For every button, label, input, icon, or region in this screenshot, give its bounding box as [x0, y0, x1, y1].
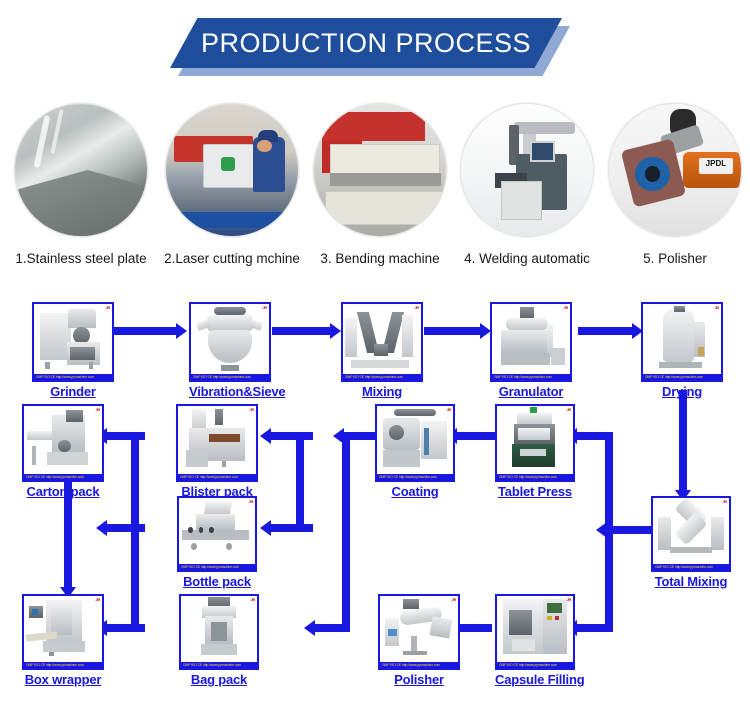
corner-mark: JR: [722, 499, 727, 504]
watermark: GMP ISO CE http://www.jrpmachine.com: [653, 564, 729, 570]
polisher-photo: JPDL: [608, 103, 742, 237]
watermark: GMP ISO CE http://www.jrpmachine.com: [178, 474, 256, 480]
flow-node-grinder[interactable]: JR GMP ISO CE http://www.jrpmachine.com …: [32, 302, 114, 399]
watermark: GMP ISO CE http://www.jrpmachine.com: [181, 662, 257, 668]
material-caption-5: 5. Polisher: [600, 251, 750, 266]
watermark: GMP ISO CE http://www.jrpmachine.com: [497, 474, 573, 480]
flow-node-bag-pack[interactable]: JR GMP ISO CE http://www.jrpmachine.com …: [179, 594, 259, 687]
total-mixing-thumbnail[interactable]: JR GMP ISO CE http://www.jrpmachine.com: [651, 496, 731, 572]
flow-label-total-mixing: Total Mixing: [651, 574, 731, 589]
mixing-thumbnail[interactable]: JR GMP ISO CE http://www.jrpmachine.com: [341, 302, 423, 382]
arrow-bag-pack-to-box-wrapper: [105, 624, 145, 632]
tablet-press-thumbnail[interactable]: JR GMP ISO CE http://www.jrpmachine.com: [495, 404, 575, 482]
blister-pack-thumbnail[interactable]: JR GMP ISO CE http://www.jrpmachine.com: [176, 404, 258, 482]
flow-node-total-mixing[interactable]: JR GMP ISO CE http://www.jrpmachine.com …: [651, 496, 731, 589]
flow-node-vibration-sieve[interactable]: JR GMP ISO CE http://www.jrpmachine.com …: [189, 302, 285, 399]
arrowhead-grinder-to-vibration: [176, 323, 187, 339]
arrow-mixing-to-granulator: [424, 327, 482, 335]
flow-node-drying[interactable]: JR GMP ISO CE http://www.jrpmachine.com …: [641, 302, 723, 399]
material-caption-3: 3. Bending machine: [305, 251, 455, 266]
corner-mark: JR: [566, 407, 571, 412]
corner-mark: JR: [248, 499, 253, 504]
granulator-thumbnail[interactable]: JR GMP ISO CE http://www.jrpmachine.com: [490, 302, 572, 382]
corner-mark: JR: [566, 597, 571, 602]
grinder-thumbnail[interactable]: JR GMP ISO CE http://www.jrpmachine.com: [32, 302, 114, 382]
trunk-left-vertical: [131, 432, 139, 632]
watermark: GMP ISO CE http://www.jrpmachine.com: [380, 662, 458, 668]
flow-node-tablet-press[interactable]: JR GMP ISO CE http://www.jrpmachine.com …: [495, 404, 575, 499]
material-item-1: 1.Stainless steel plate: [6, 103, 156, 266]
watermark: GMP ISO CE http://www.jrpmachine.com: [492, 374, 570, 380]
welding-automatic-photo: [460, 103, 594, 237]
corner-mark: JR: [563, 305, 568, 310]
arrow-drying-to-total-mixing: [679, 390, 687, 495]
flow-node-polisher[interactable]: JR GMP ISO CE http://www.jrpmachine.com …: [378, 594, 460, 687]
vibration-sieve-thumbnail[interactable]: JR GMP ISO CE http://www.jrpmachine.com: [189, 302, 271, 382]
trunk-mid-vertical: [296, 432, 304, 532]
watermark: GMP ISO CE http://www.jrpmachine.com: [497, 662, 573, 668]
watermark: GMP ISO CE http://www.jrpmachine.com: [24, 662, 102, 668]
corner-mark: JR: [446, 407, 451, 412]
capsule-filling-thumbnail[interactable]: JR GMP ISO CE http://www.jrpmachine.com: [495, 594, 575, 670]
flow-label-granulator: Granulator: [490, 384, 572, 399]
material-caption-4: 4. Welding automatic: [452, 251, 602, 266]
arrow-grinder-to-vibration: [113, 327, 178, 335]
banner-parallelogram: PRODUCTION PROCESS: [170, 18, 562, 68]
flow-label-tablet-press: Tablet Press: [495, 484, 575, 499]
flow-node-coating[interactable]: JR GMP ISO CE http://www.jrpmachine.com …: [375, 404, 455, 499]
flow-node-box-wrapper[interactable]: JR GMP ISO CE http://www.jrpmachine.com …: [22, 594, 104, 687]
flow-node-granulator[interactable]: JR GMP ISO CE http://www.jrpmachine.com …: [490, 302, 572, 399]
corner-mark: JR: [249, 407, 254, 412]
flow-label-box-wrapper: Box wrapper: [22, 672, 104, 687]
corner-mark: JR: [451, 597, 456, 602]
page-title: PRODUCTION PROCESS: [201, 28, 531, 59]
corner-mark: JR: [414, 305, 419, 310]
material-item-5: JPDL 5. Polisher: [600, 103, 750, 266]
watermark: GMP ISO CE http://www.jrpmachine.com: [343, 374, 421, 380]
arrow-trunk-to-blister-pack: [269, 432, 313, 440]
corner-mark: JR: [105, 305, 110, 310]
corner-mark: JR: [95, 597, 100, 602]
corner-mark: JR: [714, 305, 719, 310]
material-item-2: 2.Laser cutting mchine: [157, 103, 307, 266]
trunk-right-vertical: [605, 432, 613, 628]
flow-label-grinder: Grinder: [32, 384, 114, 399]
arrow-bottle-pack-out-left: [105, 524, 145, 532]
watermark: GMP ISO CE http://www.jrpmachine.com: [179, 564, 255, 570]
flow-label-mixing: Mixing: [341, 384, 423, 399]
bending-machine-photo: [313, 103, 447, 237]
arrow-trunk-to-tablet-press: [576, 432, 613, 440]
corner-mark: JR: [262, 305, 267, 310]
material-item-3: 3. Bending machine: [305, 103, 455, 266]
corner-mark: JR: [95, 407, 100, 412]
flow-node-mixing[interactable]: JR GMP ISO CE http://www.jrpmachine.com …: [341, 302, 423, 399]
flow-node-capsule-filling[interactable]: JR GMP ISO CE http://www.jrpmachine.com …: [495, 594, 584, 687]
flow-label-drying: Drying: [641, 384, 723, 399]
stainless-steel-plate-photo: [14, 103, 148, 237]
watermark: GMP ISO CE http://www.jrpmachine.com: [377, 474, 453, 480]
trunk-mid-right-vertical: [342, 432, 350, 628]
flow-label-bottle-pack: Bottle pack: [177, 574, 257, 589]
material-caption-1: 1.Stainless steel plate: [6, 251, 156, 266]
materials-row: 1.Stainless steel plate 2.Laser cutting …: [0, 103, 750, 278]
arrow-trunk-to-carton-pack: [105, 432, 145, 440]
flow-label-bag-pack: Bag pack: [179, 672, 259, 687]
carton-pack-thumbnail[interactable]: JR GMP ISO CE http://www.jrpmachine.com: [22, 404, 104, 482]
flow-node-bottle-pack[interactable]: JR GMP ISO CE http://www.jrpmachine.com …: [177, 496, 257, 589]
arrow-trunk-to-polisher: [313, 624, 350, 632]
bag-pack-thumbnail[interactable]: JR GMP ISO CE http://www.jrpmachine.com: [179, 594, 259, 670]
box-wrapper-thumbnail[interactable]: JR GMP ISO CE http://www.jrpmachine.com: [22, 594, 104, 670]
material-item-4: 4. Welding automatic: [452, 103, 602, 266]
flow-label-coating: Coating: [375, 484, 455, 499]
corner-mark: JR: [250, 597, 255, 602]
flow-label-carton-pack: Carton pack: [22, 484, 104, 499]
watermark: GMP ISO CE http://www.jrpmachine.com: [34, 374, 112, 380]
flow-label-polisher: Polisher: [378, 672, 460, 687]
arrowhead-trunk-to-polisher: [304, 620, 315, 636]
arrow-trunk-to-bottle-pack: [269, 524, 313, 532]
page-title-banner: PRODUCTION PROCESS: [170, 18, 570, 76]
watermark: GMP ISO CE http://www.jrpmachine.com: [24, 474, 102, 480]
arrowhead-vibration-to-mixing: [330, 323, 341, 339]
bottle-pack-thumbnail[interactable]: JR GMP ISO CE http://www.jrpmachine.com: [177, 496, 257, 572]
watermark: GMP ISO CE http://www.jrpmachine.com: [191, 374, 269, 380]
coating-thumbnail[interactable]: JR GMP ISO CE http://www.jrpmachine.com: [375, 404, 455, 482]
flow-label-vibration-sieve: Vibration&Sieve: [189, 384, 285, 399]
polisher-machine-thumbnail[interactable]: JR GMP ISO CE http://www.jrpmachine.com: [378, 594, 460, 670]
drying-thumbnail[interactable]: JR GMP ISO CE http://www.jrpmachine.com: [641, 302, 723, 382]
production-flowchart: JR GMP ISO CE http://www.jrpmachine.com …: [0, 292, 750, 692]
material-caption-2: 2.Laser cutting mchine: [157, 251, 307, 266]
arrowhead-bottle-pack-out-left: [96, 520, 107, 536]
flow-label-capsule-filling: Capsule Filling: [495, 672, 584, 687]
arrow-granulator-to-drying: [578, 327, 634, 335]
laser-cutting-machine-photo: [165, 103, 299, 237]
flow-node-blister-pack[interactable]: JR GMP ISO CE http://www.jrpmachine.com …: [176, 404, 258, 499]
arrowhead-trunk-to-blister-pack: [260, 428, 271, 444]
watermark: GMP ISO CE http://www.jrpmachine.com: [643, 374, 721, 380]
flow-node-carton-pack[interactable]: JR GMP ISO CE http://www.jrpmachine.com …: [22, 404, 104, 499]
arrowhead-trunk-to-bottle-pack: [260, 520, 271, 536]
